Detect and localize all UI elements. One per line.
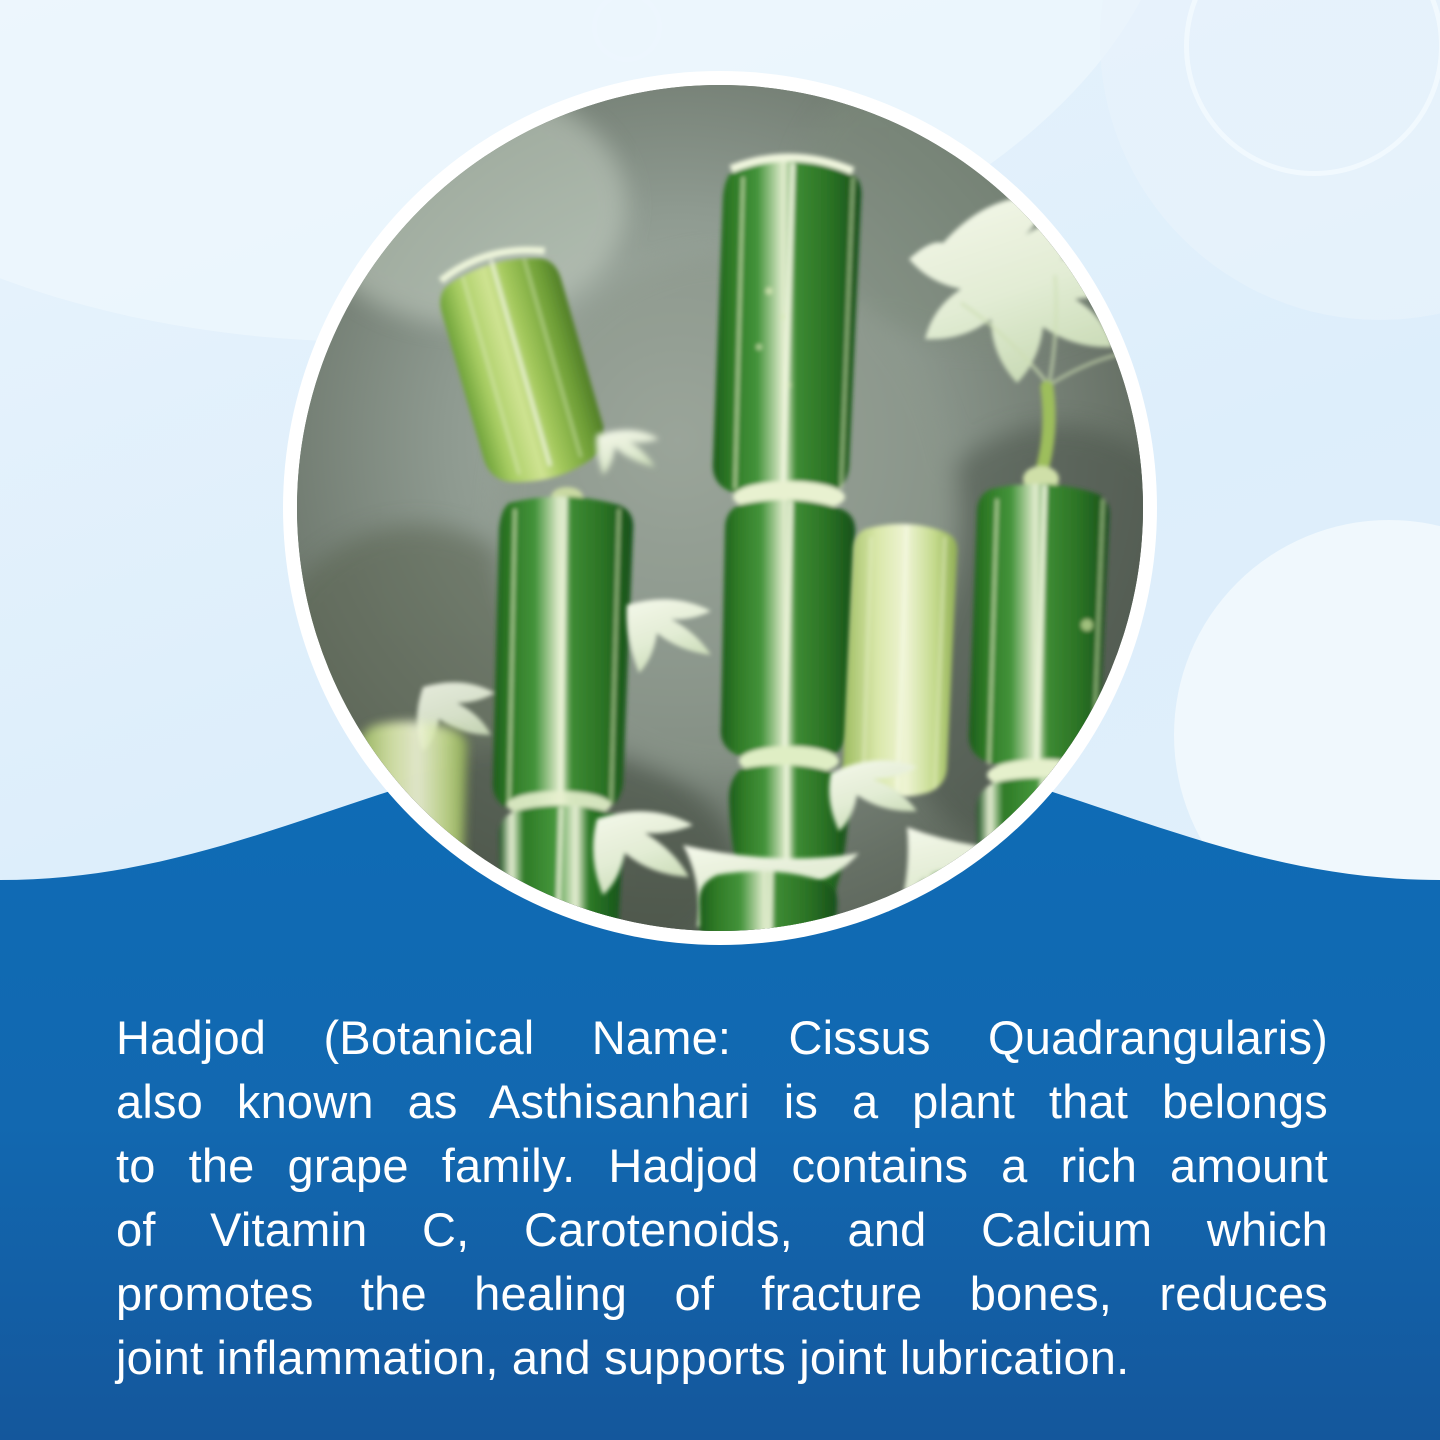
caption-line-5: promotes the healing of fracture bones, … bbox=[116, 1262, 1328, 1326]
caption-line-4: of Vitamin C, Carotenoids, and Calcium w… bbox=[116, 1198, 1328, 1262]
caption-line-1: Hadjod (Botanical Name: Cissus Quadrangu… bbox=[116, 1006, 1328, 1070]
plant-photo bbox=[297, 85, 1143, 931]
caption-line-3: to the grape family. Hadjod contains a r… bbox=[116, 1134, 1328, 1198]
plant-photo-circle bbox=[283, 71, 1157, 945]
plant-description-text: Hadjod (Botanical Name: Cissus Quadrangu… bbox=[116, 1006, 1328, 1390]
caption-line-6: joint inflammation, and supports joint l… bbox=[116, 1326, 1328, 1390]
infographic-poster: Hadjod (Botanical Name: Cissus Quadrangu… bbox=[0, 0, 1440, 1440]
caption-line-2: also known as Asthisanhari is a plant th… bbox=[116, 1070, 1328, 1134]
